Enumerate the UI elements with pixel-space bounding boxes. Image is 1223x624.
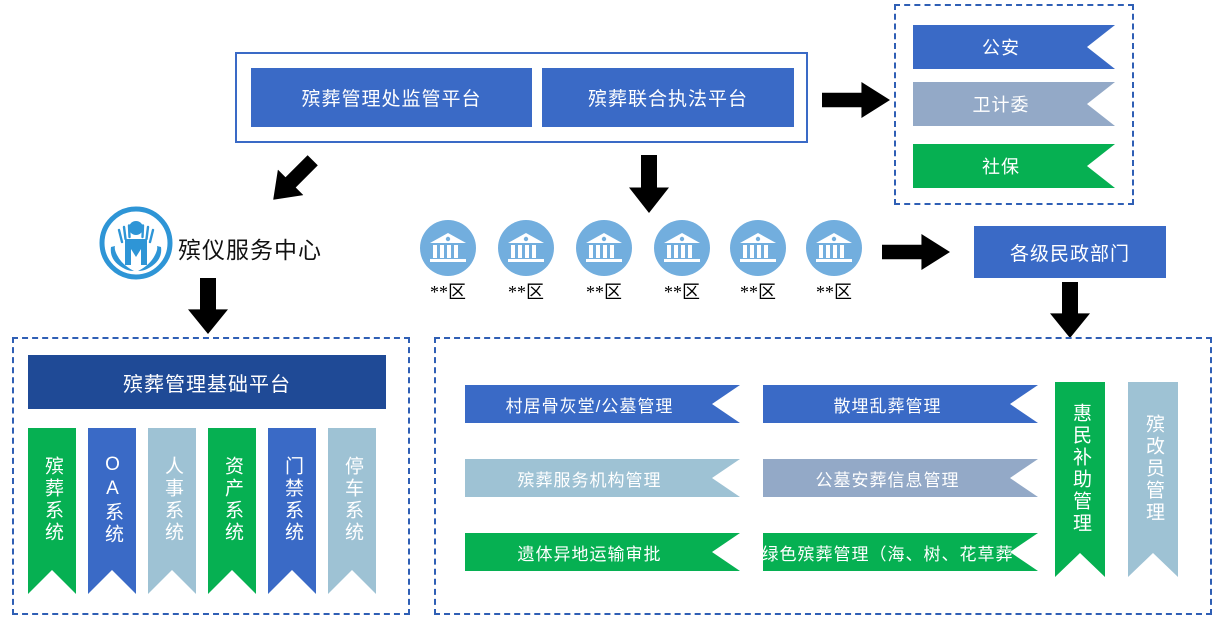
business-ribbon-reform-officer-management[interactable]: 殡改员管理: [1128, 382, 1178, 577]
civil-affairs-card[interactable]: 各级民政部门: [974, 226, 1166, 278]
district-icon-2[interactable]: [498, 220, 554, 276]
system-ribbon-funeral[interactable]: 殡葬系统: [28, 428, 76, 594]
system-ribbon-oa[interactable]: OA系统: [88, 428, 136, 594]
system-ribbon-access-control[interactable]: 门禁系统: [268, 428, 316, 594]
platform-card-supervision[interactable]: 殡葬管理处监管平台: [251, 68, 532, 127]
service-center-label: 殡仪服务中心: [178, 231, 348, 265]
agency-ribbon-social-security[interactable]: 社保: [913, 144, 1115, 188]
arrow-civil-affairs-to-business-panel-icon: [1050, 282, 1090, 338]
business-ribbon-service-institution[interactable]: 殡葬服务机构管理: [465, 459, 740, 497]
district-icon-4[interactable]: [654, 220, 710, 276]
arrow-service-center-to-base-platform-icon: [188, 278, 228, 334]
district-icon-1[interactable]: [420, 220, 476, 276]
business-ribbon-subsidy-management[interactable]: 惠民补助管理: [1055, 382, 1105, 577]
agency-ribbon-health-family-planning[interactable]: 卫计委: [913, 82, 1115, 126]
district-label-1: **区: [414, 278, 482, 304]
district-label-3: **区: [570, 278, 638, 304]
base-platform-header: 殡葬管理基础平台: [28, 355, 386, 409]
architecture-diagram: 殡葬管理处监管平台 殡葬联合执法平台 公安 卫计委 社保: [0, 0, 1223, 624]
arrow-top-to-agencies-icon: [822, 82, 890, 118]
district-icon-5[interactable]: [730, 220, 786, 276]
business-ribbon-green-funeral[interactable]: 绿色殡葬管理（海、树、花草葬: [763, 533, 1038, 571]
district-label-5: **区: [724, 278, 792, 304]
system-ribbon-assets[interactable]: 资产系统: [208, 428, 256, 594]
arrow-districts-to-civil-affairs-icon: [882, 234, 950, 270]
system-ribbon-hr[interactable]: 人事系统: [148, 428, 196, 594]
district-label-6: **区: [800, 278, 868, 304]
business-ribbon-cemetery-burial-info[interactable]: 公墓安葬信息管理: [763, 459, 1038, 497]
system-ribbon-parking[interactable]: 停车系统: [328, 428, 376, 594]
district-label-4: **区: [648, 278, 716, 304]
district-label-2: **区: [492, 278, 560, 304]
arrow-top-to-districts-icon: [629, 155, 669, 213]
district-icon-3[interactable]: [576, 220, 632, 276]
agency-ribbon-public-security[interactable]: 公安: [913, 25, 1115, 69]
business-ribbon-scattered-burial[interactable]: 散埋乱葬管理: [763, 385, 1038, 423]
district-icon-6[interactable]: [806, 220, 862, 276]
business-ribbon-remains-transport-approval[interactable]: 遗体异地运输审批: [465, 533, 740, 571]
funeral-service-center-logo-icon: [99, 206, 173, 280]
arrow-top-to-service-center-icon: [260, 147, 325, 212]
business-ribbon-village-columbarium[interactable]: 村居骨灰堂/公墓管理: [465, 385, 740, 423]
platform-card-enforcement[interactable]: 殡葬联合执法平台: [542, 68, 794, 127]
